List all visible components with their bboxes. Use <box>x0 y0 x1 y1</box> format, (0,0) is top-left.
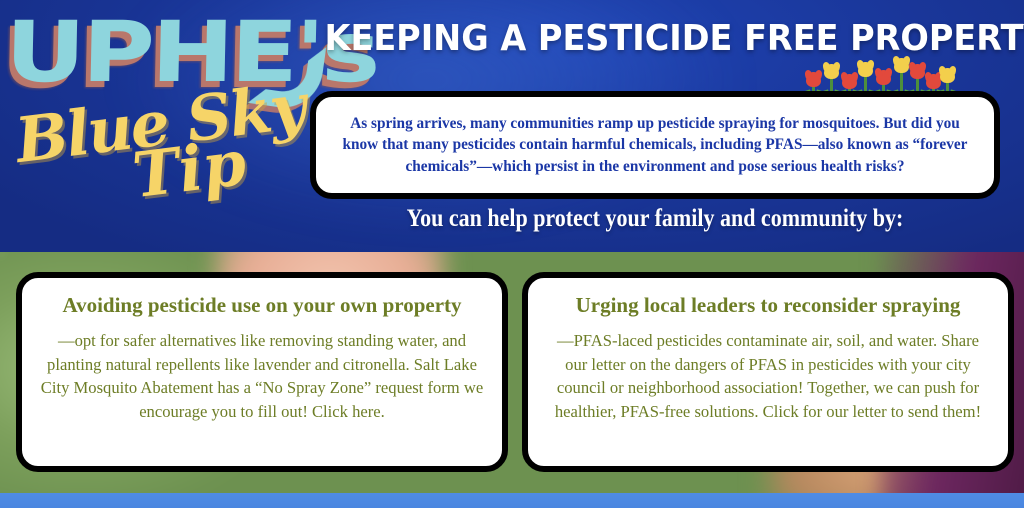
tulip-bloom <box>894 58 909 73</box>
intro-paragraph: As spring arrives, many communities ramp… <box>332 113 978 176</box>
tulip-bloom <box>858 62 873 77</box>
intro-callout-card: As spring arrives, many communities ramp… <box>310 91 1000 199</box>
tip-card-body: —opt for safer alternatives like removin… <box>40 329 484 423</box>
tip-card-title: Urging local leaders to reconsider spray… <box>576 294 961 317</box>
tip-card-title: Avoiding pesticide use on your own prope… <box>62 294 461 317</box>
tip-card-body: —PFAS-laced pesticides contaminate air, … <box>546 329 990 423</box>
logo-script-tagline: Blue Sky Tip <box>13 78 323 217</box>
tulip-bloom <box>876 70 891 85</box>
tulip-bloom <box>910 64 925 79</box>
tip-card-urging-local-leaders[interactable]: Urging local leaders to reconsider spray… <box>522 272 1014 472</box>
tulip-bloom <box>842 74 857 89</box>
tip-card-avoiding-pesticide-use[interactable]: Avoiding pesticide use on your own prope… <box>16 272 508 472</box>
tulip-bloom <box>926 74 941 89</box>
tulip-bloom <box>940 68 955 83</box>
subheading: You can help protect your family and com… <box>343 205 968 233</box>
brand-logo: UPHE's Blue Sky Tip <box>0 0 330 252</box>
tulip-bloom <box>806 72 821 87</box>
poster-canvas: UPHE's Blue Sky Tip KEEPING A PESTICIDE … <box>0 0 1024 508</box>
tulip-bloom <box>824 64 839 79</box>
bottom-accent-bar <box>0 493 1024 508</box>
